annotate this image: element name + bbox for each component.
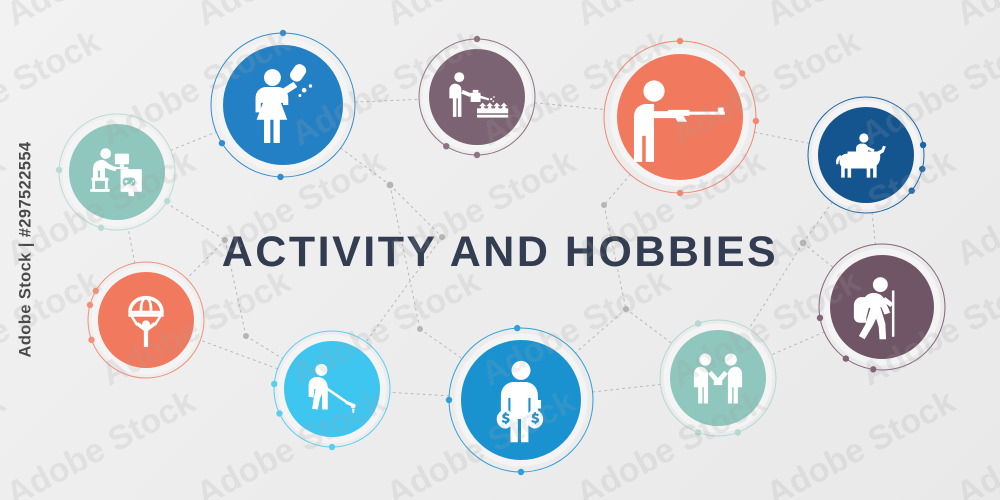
- node-ring-dot: [870, 366, 876, 372]
- junction-dot: [601, 202, 607, 208]
- node-ring-dot: [735, 429, 741, 435]
- node-disc[interactable]: [69, 124, 165, 220]
- connection-line: [420, 329, 462, 359]
- node-ring-dot: [739, 70, 745, 76]
- node-ring-dot: [443, 143, 449, 149]
- node-disc[interactable]: [98, 272, 194, 368]
- node-ring-dot: [514, 325, 520, 331]
- node-ring-dot: [93, 288, 99, 294]
- watermark-text: Adobe Stock | #297522554: [17, 120, 36, 380]
- node-ring-dot: [474, 36, 480, 42]
- connection-line: [200, 340, 277, 369]
- connection-line: [246, 336, 283, 359]
- node-friendship[interactable]: [660, 320, 776, 436]
- node-ring-dot: [920, 142, 926, 148]
- node-gaming[interactable]: [56, 114, 175, 231]
- node-ring-dot: [695, 429, 701, 435]
- node-ring-dot: [87, 302, 93, 308]
- junction-dot: [243, 333, 249, 339]
- node-ring-dot: [843, 355, 849, 361]
- node-golf[interactable]: [271, 331, 390, 450]
- node-ring-dot: [919, 166, 925, 172]
- node-ring-dot: [817, 315, 823, 321]
- infographic-canvas: ACTIVITY AND HOBBIES Adobe Stock | #2975…: [0, 0, 1000, 500]
- connection-line: [355, 99, 419, 102]
- node-ring-dot: [276, 410, 282, 416]
- node-gardening[interactable]: [419, 36, 535, 158]
- node-ring-dot: [277, 174, 283, 180]
- node-ring-dot: [446, 397, 452, 403]
- node-ring-dot: [909, 188, 915, 194]
- connection-line: [390, 392, 449, 395]
- connection-line: [593, 384, 661, 392]
- node-ring-dot: [56, 167, 62, 173]
- page-title: ACTIVITY AND HOBBIES: [0, 228, 1000, 277]
- connection-line: [754, 132, 809, 143]
- node-ring-dot: [329, 444, 335, 450]
- connection-line: [535, 103, 605, 110]
- junction-dot: [387, 182, 394, 189]
- connection-line: [604, 175, 630, 205]
- node-ring-dot: [88, 337, 94, 343]
- junction-dot: [623, 306, 629, 312]
- node-ring-dot: [677, 38, 683, 44]
- node-badminton[interactable]: [211, 30, 355, 180]
- node-shooting[interactable]: [604, 38, 759, 196]
- connection-line: [575, 309, 626, 353]
- node-disc[interactable]: [284, 341, 380, 437]
- node-ring-dot: [164, 198, 170, 204]
- node-ring-dot: [518, 469, 524, 475]
- node-earnings[interactable]: [446, 325, 593, 475]
- node-ring-dot: [271, 381, 277, 387]
- connection-line: [171, 132, 216, 150]
- node-ring-dot: [474, 152, 480, 158]
- node-parachute[interactable]: [87, 262, 204, 378]
- node-ring-dot: [753, 118, 759, 124]
- node-ring-dot: [695, 320, 701, 326]
- connection-line: [771, 332, 824, 355]
- connection-line: [626, 309, 672, 343]
- node-ring-dot: [219, 140, 225, 146]
- junction-dot: [417, 326, 423, 332]
- node-horse-riding[interactable]: [808, 97, 926, 213]
- node-ring-dot: [677, 190, 683, 196]
- connection-line: [341, 148, 390, 185]
- node-ring-dot: [280, 30, 286, 36]
